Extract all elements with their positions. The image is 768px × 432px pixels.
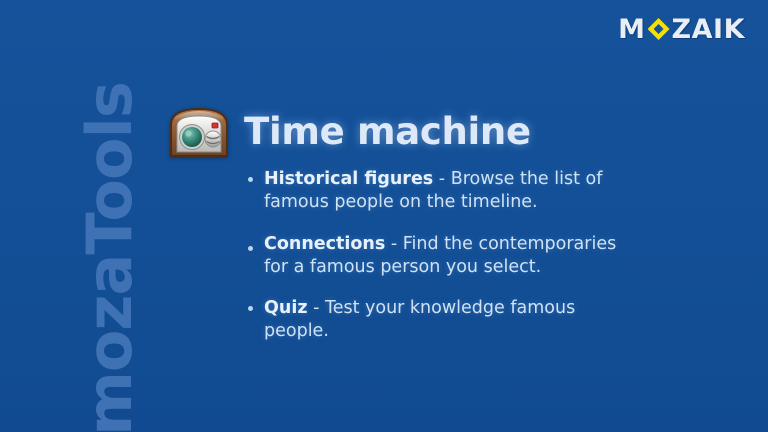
feature-term: Quiz — [264, 298, 308, 318]
diamond-logo-mark-icon — [648, 16, 670, 42]
presentation-slide: mozaTools M ZAIK — [0, 0, 768, 432]
mozaik-logo[interactable]: M ZAIK — [618, 14, 745, 44]
list-item[interactable]: Connections - Find the contemporaries fo… — [243, 233, 643, 280]
list-item[interactable]: Quiz - Test your knowledge famous people… — [243, 297, 643, 344]
logo-text-left: M — [618, 16, 645, 43]
feature-list: Historical figures - Browse the list of … — [243, 168, 643, 344]
feature-separator: - — [308, 298, 325, 318]
list-item[interactable]: Historical figures - Browse the list of … — [243, 168, 643, 215]
feature-separator: - — [433, 169, 450, 189]
page-title: Time machine — [244, 113, 531, 150]
bullet-icon — [248, 306, 253, 311]
feature-separator: - — [385, 234, 402, 254]
vintage-radio-icon — [168, 103, 230, 159]
watermark-label: mozaTools — [79, 79, 141, 432]
slide-header: Time machine — [168, 103, 531, 159]
feature-term: Connections — [264, 234, 385, 254]
feature-term: Historical figures — [264, 169, 433, 189]
logo-text-right: ZAIK — [672, 16, 745, 43]
bullet-icon — [248, 246, 253, 251]
bullet-icon — [248, 177, 253, 182]
